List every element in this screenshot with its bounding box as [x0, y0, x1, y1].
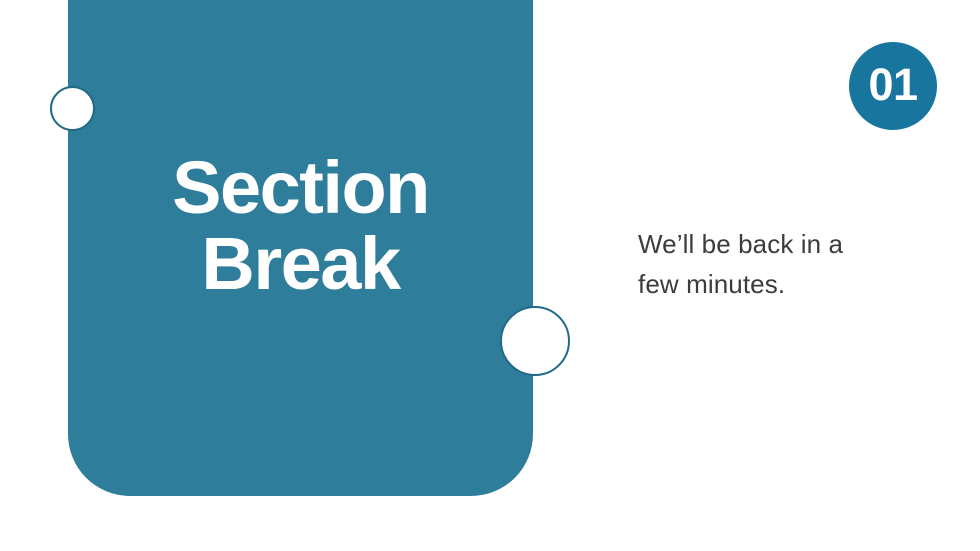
heading-line-2: Break: [68, 226, 533, 302]
slide-canvas: Section Break 01 We’ll be back in a few …: [0, 0, 980, 551]
section-heading: Section Break: [68, 150, 533, 302]
body-copy-line-2: few minutes.: [638, 264, 928, 304]
heading-line-1: Section: [68, 150, 533, 226]
section-body-copy: We’ll be back in a few minutes.: [638, 224, 928, 304]
small-outlined-circle-icon: [50, 86, 95, 131]
section-number-label: 01: [868, 62, 917, 110]
large-outlined-circle-icon: [500, 306, 570, 376]
section-number-badge: 01: [849, 42, 937, 130]
body-copy-line-1: We’ll be back in a: [638, 224, 928, 264]
